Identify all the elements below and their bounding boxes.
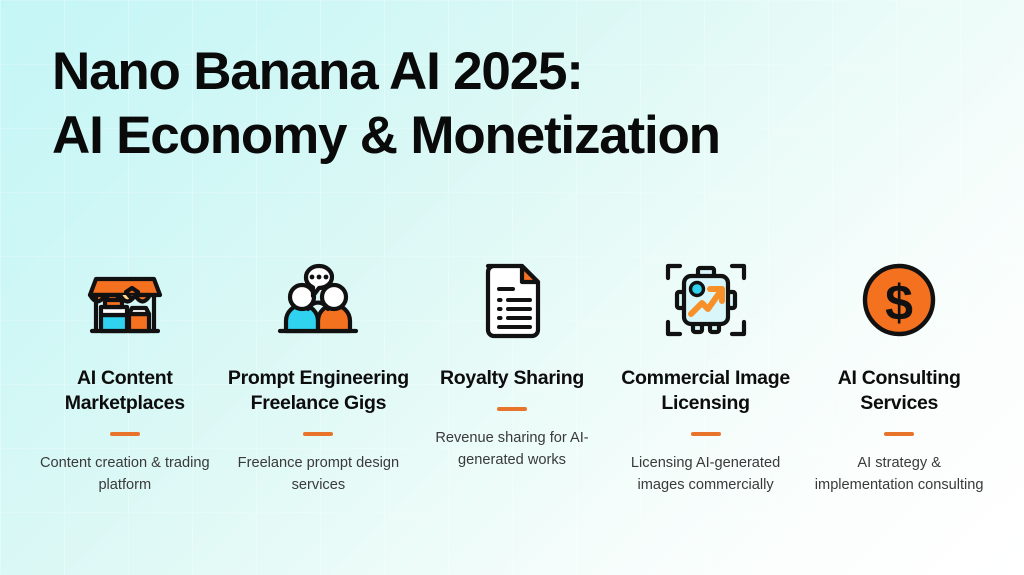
card-title: Royalty Sharing bbox=[440, 366, 584, 391]
card-description: Revenue sharing for AI-generated works bbox=[426, 427, 598, 471]
page-title: Nano Banana AI 2025: AI Economy & Moneti… bbox=[52, 40, 972, 168]
marketplace-stall-icon bbox=[82, 252, 168, 348]
card-ai-consulting-services: $ AI Consulting Services AI strategy & i… bbox=[802, 252, 996, 496]
card-description: Freelance prompt design services bbox=[232, 452, 404, 496]
title-line-1: Nano Banana AI 2025: bbox=[52, 40, 972, 104]
two-people-chat-icon bbox=[272, 252, 364, 348]
svg-text:$: $ bbox=[885, 275, 913, 331]
card-ai-content-marketplaces: AI Content Marketplaces Content creation… bbox=[28, 252, 222, 496]
image-license-growth-icon bbox=[660, 252, 752, 348]
card-title: Commercial Image Licensing bbox=[615, 366, 797, 416]
accent-rule bbox=[691, 432, 721, 436]
accent-rule bbox=[110, 432, 140, 436]
card-commercial-image-licensing: Commercial Image Licensing Licensing AI-… bbox=[609, 252, 803, 496]
card-title: AI Content Marketplaces bbox=[34, 366, 216, 416]
infographic-slide: Nano Banana AI 2025: AI Economy & Moneti… bbox=[0, 0, 1024, 575]
card-row: AI Content Marketplaces Content creation… bbox=[28, 252, 996, 552]
title-line-2: AI Economy & Monetization bbox=[52, 104, 972, 168]
accent-rule bbox=[303, 432, 333, 436]
card-description: AI strategy & implementation consulting bbox=[813, 452, 985, 496]
card-title: Prompt Engineering Freelance Gigs bbox=[228, 366, 410, 416]
document-list-icon bbox=[474, 252, 550, 348]
card-title: AI Consulting Services bbox=[808, 366, 990, 416]
accent-rule bbox=[497, 407, 527, 411]
card-description: Content creation & trading platform bbox=[39, 452, 211, 496]
card-description: Licensing AI-generated images commercial… bbox=[620, 452, 792, 496]
accent-rule bbox=[884, 432, 914, 436]
card-royalty-sharing: Royalty Sharing Revenue sharing for AI-g… bbox=[415, 252, 609, 471]
card-prompt-engineering-freelance-gigs: Prompt Engineering Freelance Gigs Freela… bbox=[222, 252, 416, 496]
dollar-coin-icon: $ bbox=[857, 252, 941, 348]
